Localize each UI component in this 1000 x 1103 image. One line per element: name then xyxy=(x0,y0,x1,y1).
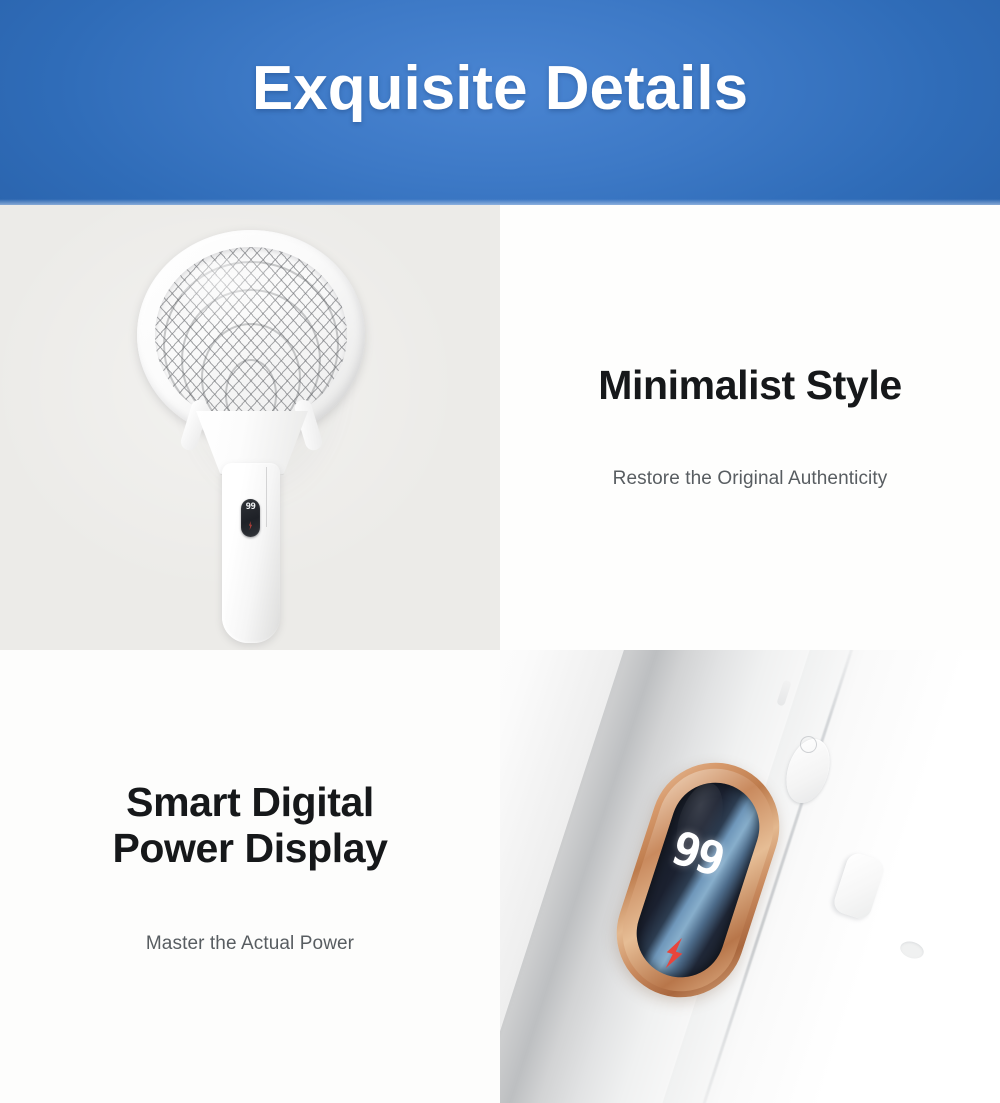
feature-subtitle-minimalist-style: Restore the Original Authenticity xyxy=(500,468,1000,490)
swatter-head-gloss xyxy=(182,258,290,332)
page-title: Exquisite Details xyxy=(0,58,1000,120)
panel-smart-digital-power-display: Smart Digital Power Display Master the A… xyxy=(0,650,500,1103)
feature-subtitle-power-display: Master the Actual Power xyxy=(0,933,500,955)
feature-subheading-block: Master the Actual Power xyxy=(0,933,500,955)
feature-title-line-2: Power Display xyxy=(0,826,500,872)
display-digits: 99 xyxy=(648,818,746,889)
panel-minimalist-style: Minimalist Style Restore the Original Au… xyxy=(500,205,1000,650)
feature-heading-block: Smart Digital Power Display xyxy=(0,780,500,872)
feature-title-line-1: Smart Digital xyxy=(0,780,500,826)
panel-display-closeup-photo: 99 xyxy=(500,650,1000,1103)
mosquito-swatter-illustration: 99 xyxy=(0,205,500,650)
product-infographic-page: Exquisite Details xyxy=(0,0,1000,1103)
swatter-mesh-area xyxy=(155,247,347,423)
feature-title-minimalist-style: Minimalist Style xyxy=(500,363,1000,409)
swatter-handle: 99 xyxy=(222,463,280,643)
feature-subheading-block: Restore the Original Authenticity xyxy=(500,468,1000,490)
swatter-handle-display: 99 xyxy=(241,499,260,537)
feature-heading-block: Minimalist Style xyxy=(500,363,1000,409)
header-banner: Exquisite Details xyxy=(0,0,1000,205)
swatter-handle-seam xyxy=(266,467,267,527)
handle-closeup-illustration: 99 xyxy=(500,650,1000,1103)
swatter-head-rim xyxy=(137,230,365,440)
panel-product-photo-swatter: 99 xyxy=(0,205,500,650)
lightning-bolt-icon xyxy=(248,521,253,530)
lightning-bolt-icon xyxy=(658,934,689,973)
handle-display-digits: 99 xyxy=(241,503,260,512)
